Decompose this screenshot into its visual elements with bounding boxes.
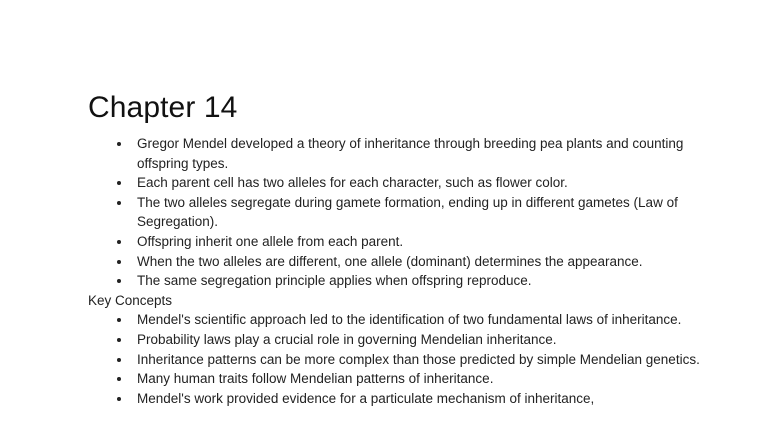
intro-bullet-list: Gregor Mendel developed a theory of inhe… [88, 134, 708, 291]
list-item: Probability laws play a crucial role in … [88, 330, 708, 350]
list-item-text: Gregor Mendel developed a theory of inhe… [137, 136, 683, 171]
list-item: Inheritance patterns can be more complex… [88, 350, 708, 370]
document-page: Chapter 14 Gregor Mendel developed a the… [0, 0, 784, 441]
list-item-text: The same segregation principle applies w… [137, 273, 532, 288]
list-item-text: Mendel's work provided evidence for a pa… [137, 391, 594, 406]
list-item: Many human traits follow Mendelian patte… [88, 369, 708, 389]
document-body: Chapter 14 Gregor Mendel developed a the… [88, 90, 708, 408]
list-item-text: The two alleles segregate during gamete … [137, 195, 678, 230]
list-item-text: Mendel's scientific approach led to the … [137, 312, 681, 327]
list-item: Gregor Mendel developed a theory of inhe… [88, 134, 708, 173]
list-item-text: Many human traits follow Mendelian patte… [137, 371, 493, 386]
list-item-text: Inheritance patterns can be more complex… [137, 352, 700, 367]
list-item: Each parent cell has two alleles for eac… [88, 173, 708, 193]
list-item: When the two alleles are different, one … [88, 252, 708, 272]
list-item: The same segregation principle applies w… [88, 271, 708, 291]
list-item: The two alleles segregate during gamete … [88, 193, 708, 232]
list-item-text: Probability laws play a crucial role in … [137, 332, 556, 347]
list-item: Offspring inherit one allele from each p… [88, 232, 708, 252]
list-item: Mendel's work provided evidence for a pa… [88, 389, 708, 409]
page-title: Chapter 14 [88, 90, 708, 126]
section-heading-key-concepts: Key Concepts [88, 291, 708, 311]
key-concepts-bullet-list: Mendel's scientific approach led to the … [88, 310, 708, 408]
list-item-text: When the two alleles are different, one … [137, 254, 643, 269]
list-item: Mendel's scientific approach led to the … [88, 310, 708, 330]
list-item-text: Each parent cell has two alleles for eac… [137, 175, 568, 190]
list-item-text: Offspring inherit one allele from each p… [137, 234, 403, 249]
